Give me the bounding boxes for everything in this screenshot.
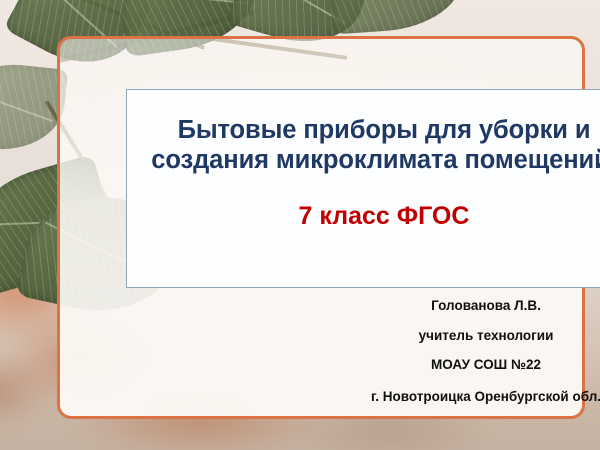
page-title: Бытовые приборы для уборки и создания ми… [127,116,600,176]
title-card: Бытовые приборы для уборки и создания ми… [126,89,600,288]
author-location: г. Новотроицка Оренбургской обл. [340,388,600,406]
author-name: Голованова Л.В. [340,299,600,313]
author-block: Голованова Л.В. учитель технологии МОАУ … [340,299,600,406]
grade-subtitle: 7 класс ФГОС [127,203,600,231]
slide-content-frame: Бытовые приборы для уборки и создания ми… [57,36,585,419]
presentation-slide: Бытовые приборы для уборки и создания ми… [0,0,600,450]
author-role: учитель технологии [340,329,600,343]
author-school: МОАУ СОШ №22 [340,358,600,372]
